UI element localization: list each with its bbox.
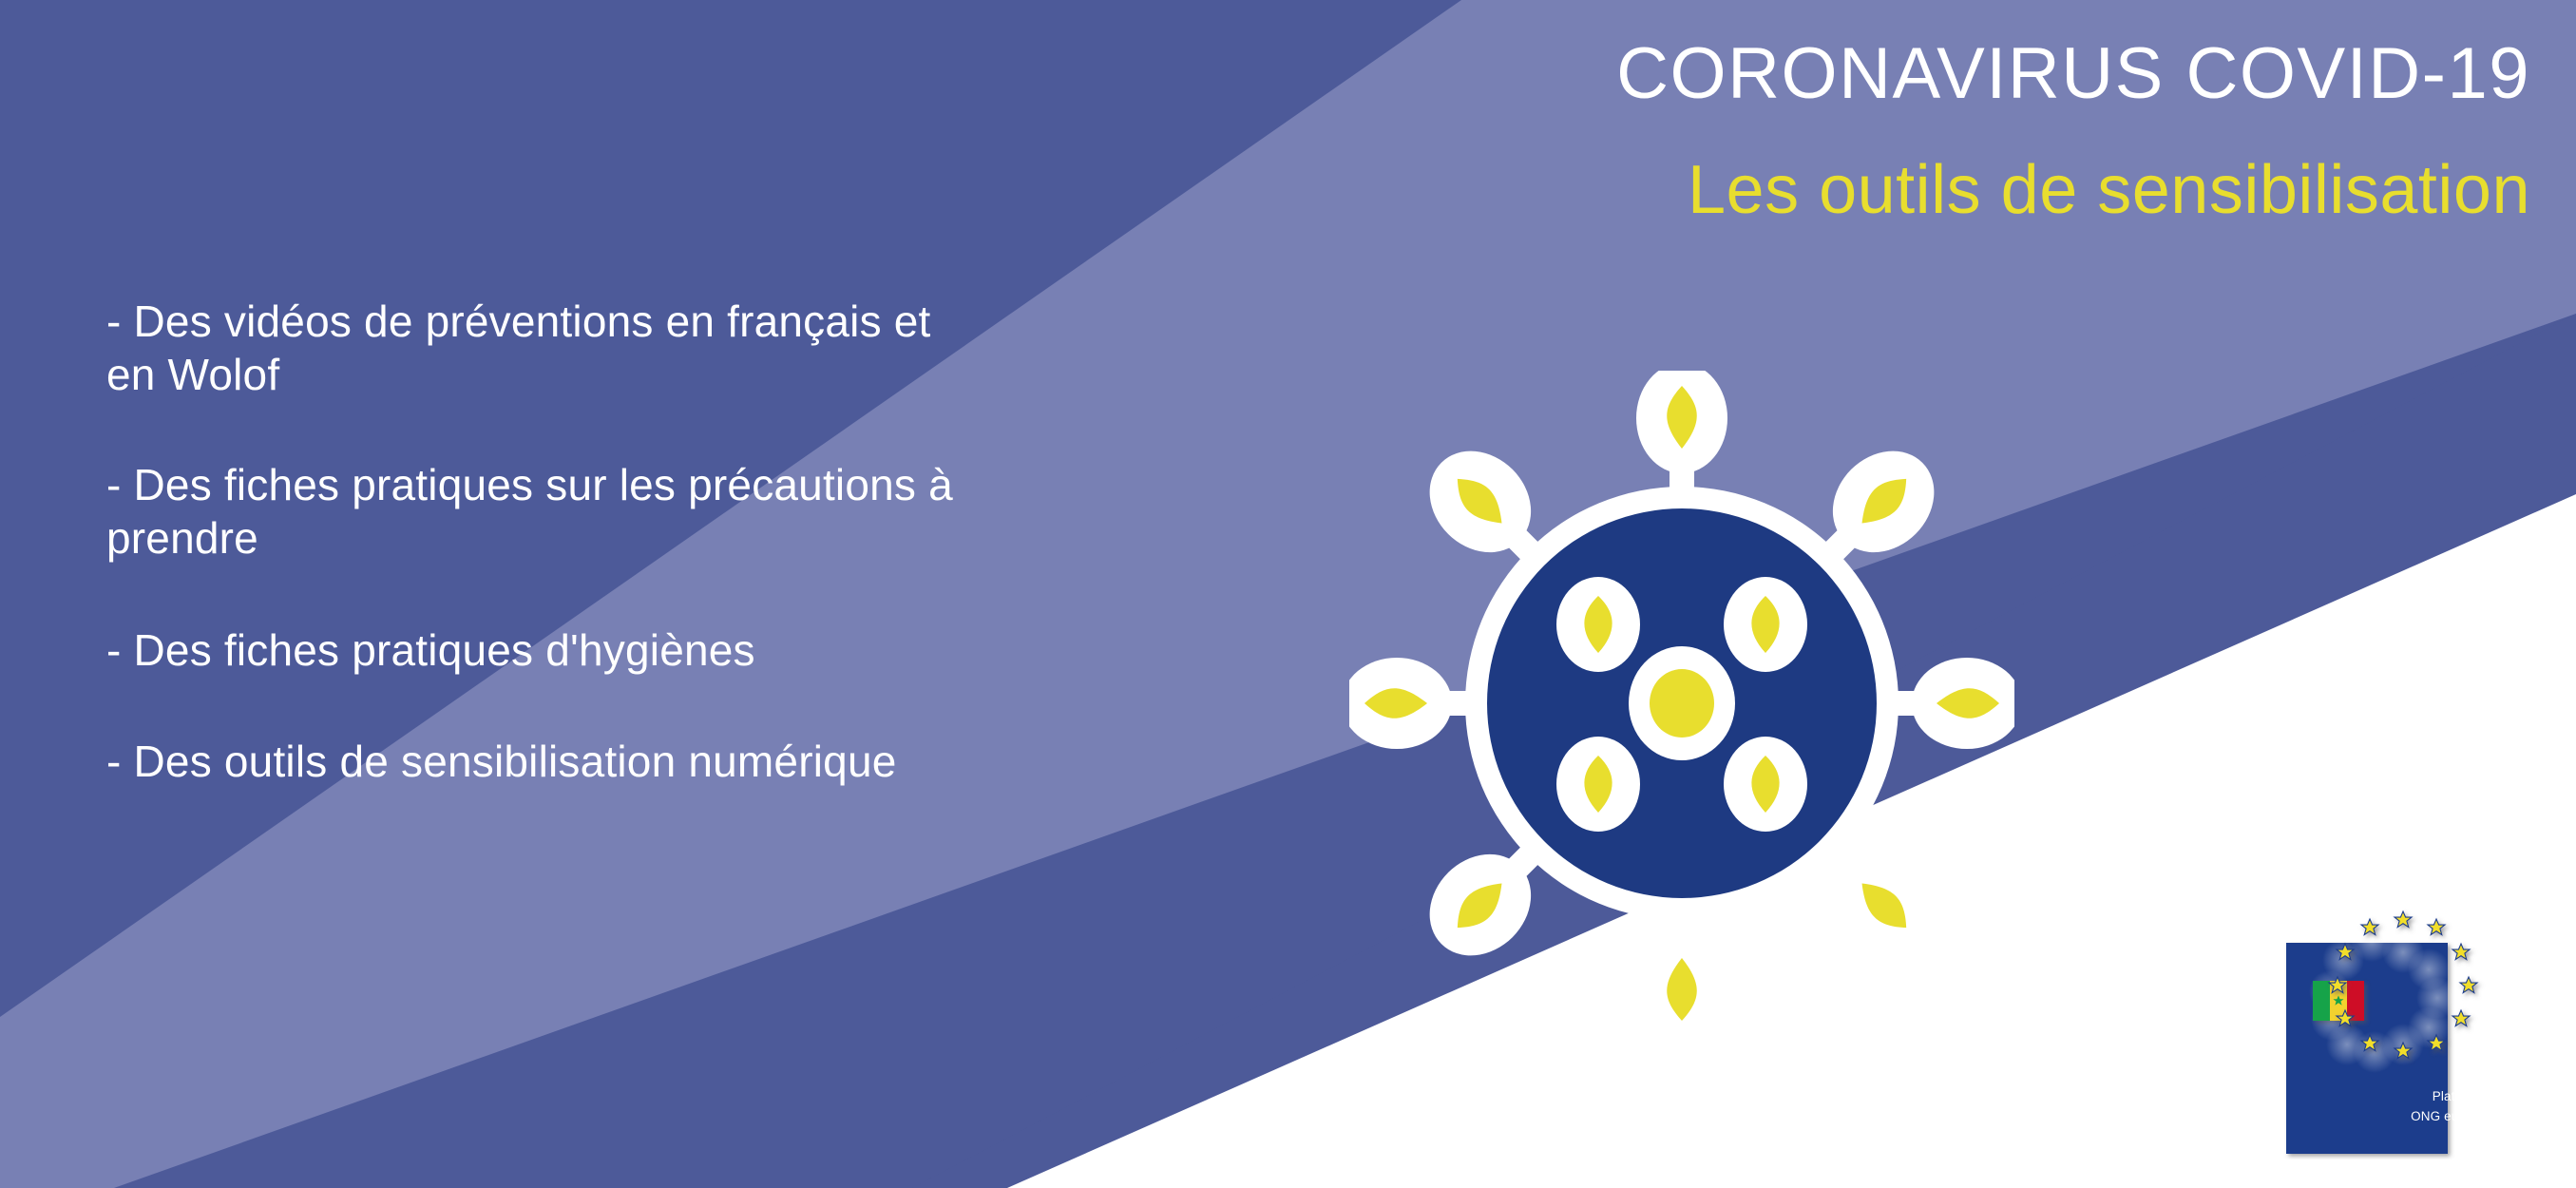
eu-star [2428,919,2445,935]
virus-center-spot [1629,646,1735,760]
eu-star [2452,1010,2470,1026]
coronavirus-icon [1349,371,2014,1036]
list-item: - Des fiches pratiques sur les précautio… [106,458,1237,565]
eu-star [2460,977,2477,993]
list-item: - Des outils de sensibilisation numériqu… [106,735,1237,788]
list-item: - Des fiches pratiques d'hygiènes [106,623,1237,677]
page-subtitle: Les outils de sensibilisation [1616,156,2530,224]
list-item: - Des vidéos de préventions en français … [106,295,1237,401]
poster-canvas: CORONAVIRUS COVID-19 Les outils de sensi… [0,0,2576,1188]
bullet-list: - Des vidéos de préventions en français … [106,295,1237,788]
eu-star [2452,944,2470,960]
virus-inner-spot [1556,577,1640,672]
page-title: CORONAVIRUS COVID-19 [1616,38,2530,110]
virus-body [1349,371,2014,1036]
virus-inner-spot [1724,577,1807,672]
virus-inner-spot [1724,737,1807,832]
organisation-logo: Plateforme des ONG européennes au Sénéga… [2279,893,2535,1159]
logo-caption: Plateforme des ONG européennes au Sénéga… [2377,1087,2520,1146]
virus-inner-spot [1556,737,1640,832]
eu-star [2395,911,2412,928]
heading-block: CORONAVIRUS COVID-19 Les outils de sensi… [1616,38,2530,224]
